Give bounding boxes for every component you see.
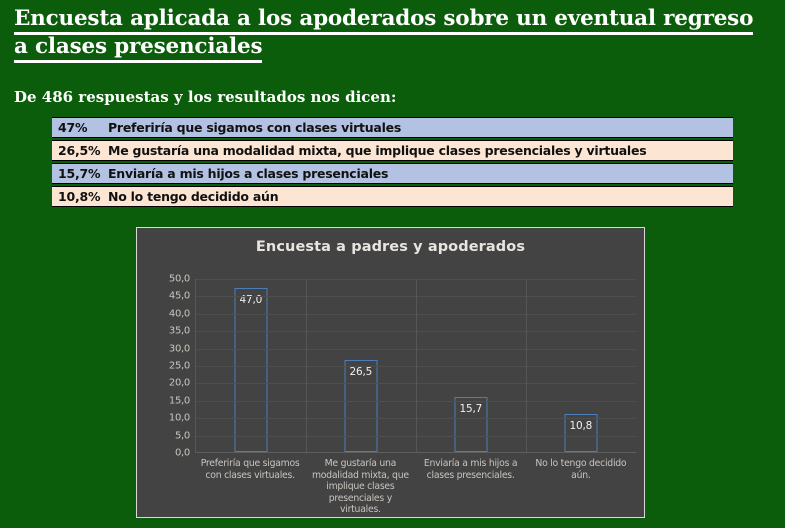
row-label: Me gustaría una modalidad mixta, que imp… bbox=[108, 143, 733, 158]
row-percent: 15,7% bbox=[52, 166, 108, 181]
table-row: 15,7% Enviaría a mis hijos a clases pres… bbox=[52, 163, 733, 184]
chart-category-label: Enviaría a mis hijos a clases presencial… bbox=[416, 458, 526, 481]
row-percent: 26,5% bbox=[52, 143, 108, 158]
chart-category-label: Me gustaría una modalidad mixta, que imp… bbox=[305, 458, 415, 516]
gridline-vertical bbox=[526, 279, 527, 452]
chart-bar-value-label: 15,7 bbox=[460, 403, 483, 415]
y-axis-tick: 30,0 bbox=[169, 343, 190, 354]
y-axis-tick: 25,0 bbox=[169, 361, 190, 372]
row-label: Enviaría a mis hijos a clases presencial… bbox=[108, 166, 733, 181]
gridline-vertical bbox=[306, 279, 307, 452]
y-axis-tick: 50,0 bbox=[169, 274, 190, 285]
chart-bar[interactable]: 15,7 bbox=[455, 397, 488, 452]
gridline-vertical bbox=[416, 279, 417, 452]
chart-title: Encuesta a padres y apoderados bbox=[137, 239, 644, 255]
row-percent: 10,8% bbox=[52, 189, 108, 204]
table-row: 26,5% Me gustaría una modalidad mixta, q… bbox=[52, 140, 733, 161]
page-title-line-2: a clases presenciales bbox=[14, 34, 262, 63]
y-axis-tick: 0,0 bbox=[175, 448, 190, 459]
y-axis-tick: 5,0 bbox=[175, 430, 190, 441]
chart-bar[interactable]: 10,8 bbox=[565, 414, 598, 452]
row-label: No lo tengo decidido aún bbox=[108, 189, 733, 204]
chart-bar[interactable]: 26,5 bbox=[345, 360, 378, 452]
results-table: 47% Preferiría que sigamos con clases vi… bbox=[52, 117, 733, 207]
y-axis-tick: 20,0 bbox=[169, 378, 190, 389]
bar-chart: Encuesta a padres y apoderados 50,045,04… bbox=[136, 227, 645, 518]
page-title: Encuesta aplicada a los apoderados sobre… bbox=[14, 5, 774, 61]
chart-category-axis: Preferiría que sigamos con clases virtua… bbox=[195, 458, 636, 516]
chart-category-label: No lo tengo decidido aún. bbox=[526, 458, 636, 481]
row-label: Preferiría que sigamos con clases virtua… bbox=[108, 120, 733, 135]
chart-bar-value-label: 26,5 bbox=[350, 366, 373, 378]
chart-plot-area: 47,026,515,710,8 bbox=[195, 279, 636, 453]
y-axis-tick: 10,0 bbox=[169, 413, 190, 424]
subheading-text: De 486 respuestas y los resultados nos d… bbox=[14, 88, 396, 106]
chart-y-axis: 50,045,040,035,030,025,020,015,010,05,00… bbox=[146, 270, 190, 422]
slide-canvas: Encuesta aplicada a los apoderados sobre… bbox=[0, 0, 785, 528]
page-title-line-1: Encuesta aplicada a los apoderados sobre… bbox=[14, 6, 753, 35]
chart-category-label: Preferiría que sigamos con clases virtua… bbox=[195, 458, 305, 481]
table-row: 47% Preferiría que sigamos con clases vi… bbox=[52, 117, 733, 138]
chart-bar-value-label: 10,8 bbox=[570, 420, 593, 432]
y-axis-tick: 45,0 bbox=[169, 291, 190, 302]
y-axis-tick: 35,0 bbox=[169, 326, 190, 337]
y-axis-tick: 40,0 bbox=[169, 308, 190, 319]
y-axis-tick: 15,0 bbox=[169, 395, 190, 406]
table-row: 10,8% No lo tengo decidido aún bbox=[52, 186, 733, 207]
row-percent: 47% bbox=[52, 120, 108, 135]
